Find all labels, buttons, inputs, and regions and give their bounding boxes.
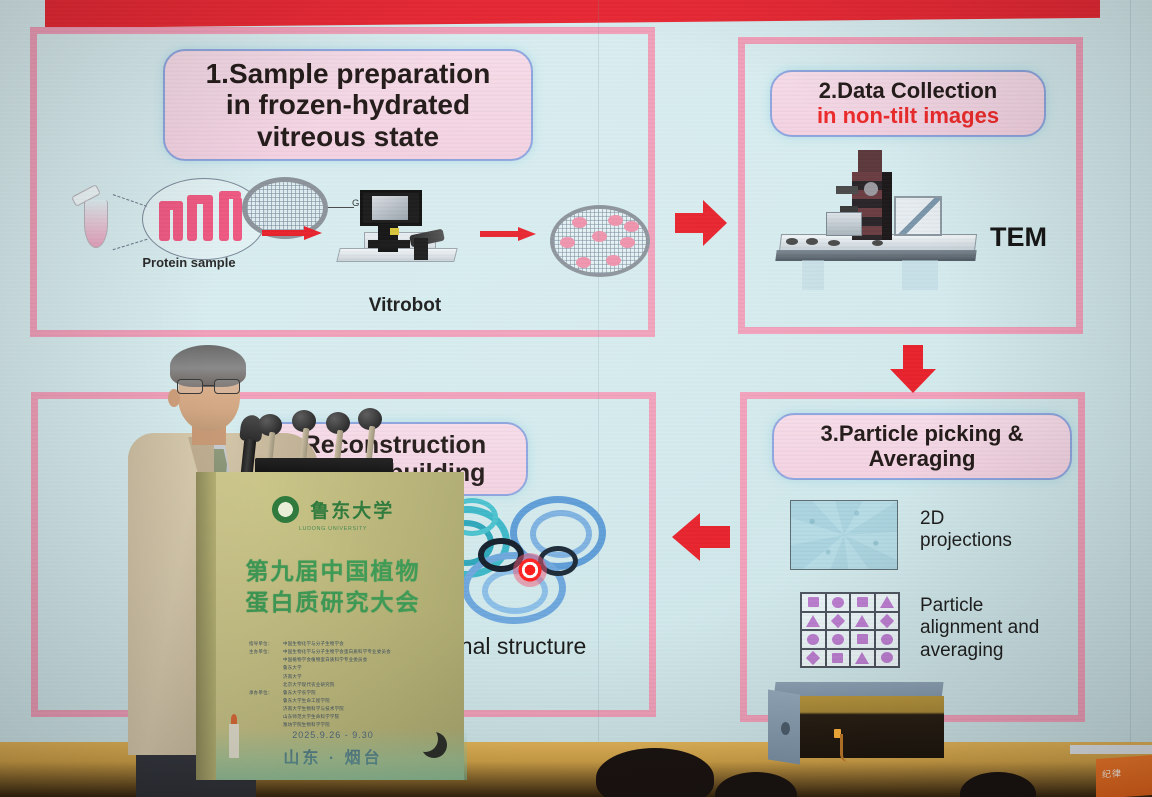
- 2d-projections-label: 2D projections: [920, 508, 1050, 552]
- organizer-value: 山东师范大学生命科学学院: [283, 714, 339, 719]
- triangle-shape-icon: [855, 615, 869, 627]
- university-name-cn: 鲁东大学: [310, 496, 394, 523]
- organizer-row: 济南大学: [249, 673, 429, 681]
- organizer-value: 鲁东大学: [283, 665, 302, 670]
- arrow-step2-to-step3: [890, 345, 936, 395]
- alignment-label-line2: alignment and: [920, 617, 1039, 638]
- particle-alignment-label: Particle alignment and averaging: [920, 595, 1070, 662]
- organizer-value: 鲁东大学农学院: [283, 690, 316, 695]
- university-logo: 鲁东大学 LUDONG UNIVERSITY: [199, 496, 467, 532]
- arrow-step1-to-step2: [675, 200, 727, 246]
- step-2-title-highlight: in non-tilt images: [782, 104, 1034, 129]
- shape-cell: [826, 649, 851, 668]
- organizer-label: 指导单位：: [249, 640, 283, 648]
- step-2-title-line1: 2.Data Collection: [819, 78, 997, 103]
- grid-with-particles-icon: [550, 205, 650, 277]
- organizer-row: 鲁东大学生命工程学院: [249, 697, 429, 705]
- stage-monitor-speaker: [768, 682, 946, 760]
- screen-seam-right: [1130, 0, 1131, 780]
- step-2-title: 2.Data Collection in non-tilt images: [770, 70, 1046, 137]
- square-shape-icon: [808, 597, 819, 607]
- arrow-grid-to-vitrobot: [262, 226, 324, 240]
- 2d-projections-label-line1: 2D: [920, 508, 944, 529]
- organizer-value: 潍坊学院生物科学学院: [283, 722, 330, 727]
- triangle-shape-icon: [806, 615, 820, 627]
- arrow-vitrobot-to-grid-particles: [480, 227, 538, 241]
- step-1-title-line1: 1.Sample preparation: [206, 58, 491, 89]
- 2d-projections-image: [790, 500, 898, 570]
- square-shape-icon: [857, 634, 868, 644]
- shape-cell: [875, 593, 900, 612]
- square-shape-icon: [832, 653, 843, 663]
- organizer-row: 鲁东大学: [249, 664, 429, 672]
- photo-of-conference-stage: Cryo-EM 1.Sample preparation in frozen-h…: [0, 0, 1152, 797]
- shape-cell: [826, 593, 851, 612]
- shape-cell: [875, 612, 900, 631]
- orange-placard-text: 纪律: [1096, 755, 1152, 781]
- helix-4: [203, 195, 213, 241]
- screen-seam-left: [598, 0, 599, 780]
- shape-cell: [826, 630, 851, 649]
- step-3-title-line1: 3.Particle picking &: [821, 421, 1024, 446]
- organizer-row: 指导单位：中国生物化学与分子生物学会: [249, 640, 429, 648]
- circle-shape-icon: [881, 652, 893, 663]
- circle-shape-icon: [881, 634, 893, 645]
- shape-cell: [801, 649, 826, 668]
- organizer-label: 承办单位：: [249, 689, 283, 697]
- sign-backing-strip: [1070, 745, 1152, 754]
- tem-microscope-icon: [766, 150, 994, 290]
- shape-cell: [850, 593, 875, 612]
- alignment-label-line3: averaging: [920, 640, 1003, 661]
- vitrobot-instrument-icon: [338, 188, 466, 284]
- circle-shape-icon: [832, 634, 844, 645]
- shape-cell: [801, 593, 826, 612]
- orange-placard: 纪律: [1096, 755, 1152, 797]
- protein-sample-label: Protein sample: [124, 255, 254, 270]
- step-3-title: 3.Particle picking & Averaging: [772, 413, 1072, 480]
- organizer-value: 中国植物学会植物蛋白质科学专业委员会: [283, 657, 367, 662]
- conference-podium: 鲁东大学 LUDONG UNIVERSITY 第九届中国植物 蛋白质研究大会 指…: [196, 472, 464, 780]
- sample-tube-icon: [78, 192, 114, 254]
- organizer-row: 济南大学生物科学与技术学院: [249, 705, 429, 713]
- square-shape-icon: [857, 597, 868, 607]
- conference-title-line1: 第九届中国植物: [246, 558, 421, 584]
- podium-left-edge: [196, 472, 216, 780]
- circle-shape-icon: [807, 634, 819, 645]
- tem-label: TEM: [990, 222, 1047, 253]
- triangle-shape-icon: [855, 652, 869, 664]
- step-1-title: 1.Sample preparation in frozen-hydrated …: [163, 49, 533, 161]
- diamond-shape-icon: [831, 614, 845, 628]
- organizer-row: 北京大学现代农业研究院: [249, 681, 429, 689]
- conference-title-line2: 蛋白质研究大会: [246, 589, 421, 615]
- organizer-value: 济南大学生物科学与技术学院: [283, 706, 344, 711]
- slide-title-banner: Cryo-EM: [45, 0, 1100, 28]
- organizer-value: 济南大学: [283, 674, 302, 679]
- university-name-en: LUDONG UNIVERSITY: [199, 526, 467, 532]
- organizer-list: 指导单位：中国生物化学与分子生物学会主办单位：中国生物化学与分子生物学会蛋白质科…: [249, 640, 429, 730]
- shape-cell: [875, 630, 900, 649]
- glasses-icon: [176, 379, 242, 394]
- university-seal-icon: [272, 496, 299, 523]
- circle-shape-icon: [832, 597, 844, 608]
- diamond-shape-icon: [880, 614, 894, 628]
- vitrobot-label: Vitrobot: [330, 295, 480, 317]
- shape-cell: [801, 612, 826, 631]
- particle-shape-grid: [800, 592, 900, 668]
- shape-cell: [826, 612, 851, 631]
- alignment-label-line1: Particle: [920, 595, 983, 616]
- conference-title: 第九届中国植物 蛋白质研究大会: [199, 556, 467, 618]
- organizer-row: 山东师范大学生命科学学院: [249, 713, 429, 721]
- shape-cell: [801, 630, 826, 649]
- tube-body: [84, 200, 108, 248]
- organizer-value: 北京大学现代农业研究院: [283, 682, 335, 687]
- organizer-row: 主办单位：中国生物化学与分子生物学会蛋白质科学专业委员会: [249, 648, 429, 656]
- helix-2: [173, 201, 183, 241]
- lighthouse-graphic: [229, 714, 239, 758]
- moon-graphic: [412, 726, 438, 752]
- organizer-value: 中国生物化学与分子生物学会蛋白质科学专业委员会: [283, 649, 391, 654]
- shape-cell: [875, 649, 900, 668]
- 2d-projections-label-line2: projections: [920, 530, 1012, 551]
- shape-cell: [850, 612, 875, 631]
- active-site-marker: [513, 553, 547, 587]
- helix-6: [233, 197, 242, 241]
- diamond-shape-icon: [806, 651, 820, 665]
- step-1-title-line2: in frozen-hydrated: [226, 89, 470, 120]
- step-1-title-line3: vitreous state: [257, 121, 439, 152]
- organizer-label: 主办单位：: [249, 648, 283, 656]
- organizer-row: 中国植物学会植物蛋白质科学专业委员会: [249, 656, 429, 664]
- triangle-shape-icon: [880, 596, 894, 608]
- organizer-value: 鲁东大学生命工程学院: [283, 698, 330, 703]
- arrow-step3-to-step4: [672, 513, 730, 561]
- shape-cell: [850, 649, 875, 668]
- shape-cell: [850, 630, 875, 649]
- step-3-title-line2: Averaging: [869, 446, 976, 471]
- organizer-value: 中国生物化学与分子生物学会: [283, 641, 344, 646]
- organizer-row: 承办单位：鲁东大学农学院: [249, 689, 429, 697]
